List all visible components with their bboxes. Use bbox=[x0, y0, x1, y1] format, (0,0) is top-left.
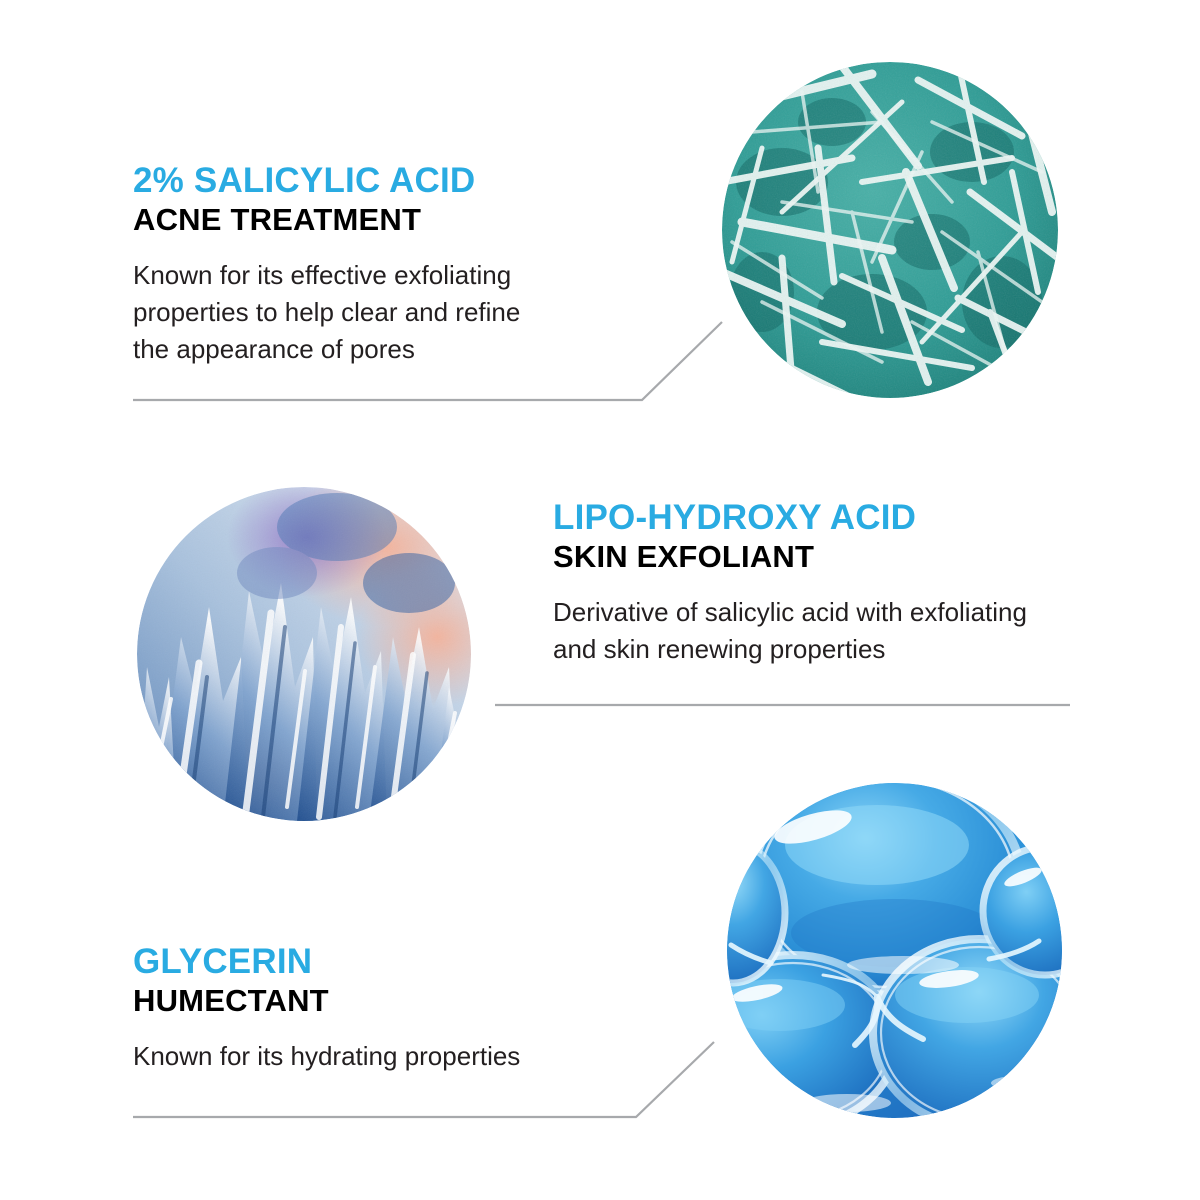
ingredient-description: Known for its effective exfoliating prop… bbox=[133, 257, 563, 368]
ingredient-image-salicylic-acid bbox=[722, 62, 1058, 398]
ingredient-description: Known for its hydrating properties bbox=[133, 1038, 653, 1075]
ingredient-title: 2% SALICYLIC ACID bbox=[133, 163, 563, 198]
ingredient-text-glycerin: GLYCERIN HUMECTANT Known for its hydrati… bbox=[133, 944, 653, 1075]
ingredient-subtitle: ACNE TREATMENT bbox=[133, 204, 563, 235]
ingredient-title: GLYCERIN bbox=[133, 944, 653, 979]
ingredient-image-lipo-hydroxy-acid bbox=[137, 487, 471, 821]
ingredient-image-glycerin bbox=[727, 783, 1062, 1118]
ingredient-description: Derivative of salicylic acid with exfoli… bbox=[553, 594, 1073, 668]
ingredient-text-salicylic-acid: 2% SALICYLIC ACID ACNE TREATMENT Known f… bbox=[133, 163, 563, 368]
ingredient-text-lipo-hydroxy-acid: LIPO-HYDROXY ACID SKIN EXFOLIANT Derivat… bbox=[553, 500, 1073, 668]
ingredient-subtitle: SKIN EXFOLIANT bbox=[553, 541, 1073, 572]
ingredient-infographic: 2% SALICYLIC ACID ACNE TREATMENT Known f… bbox=[0, 0, 1200, 1200]
ingredient-subtitle: HUMECTANT bbox=[133, 985, 653, 1016]
ingredient-title: LIPO-HYDROXY ACID bbox=[553, 500, 1073, 535]
